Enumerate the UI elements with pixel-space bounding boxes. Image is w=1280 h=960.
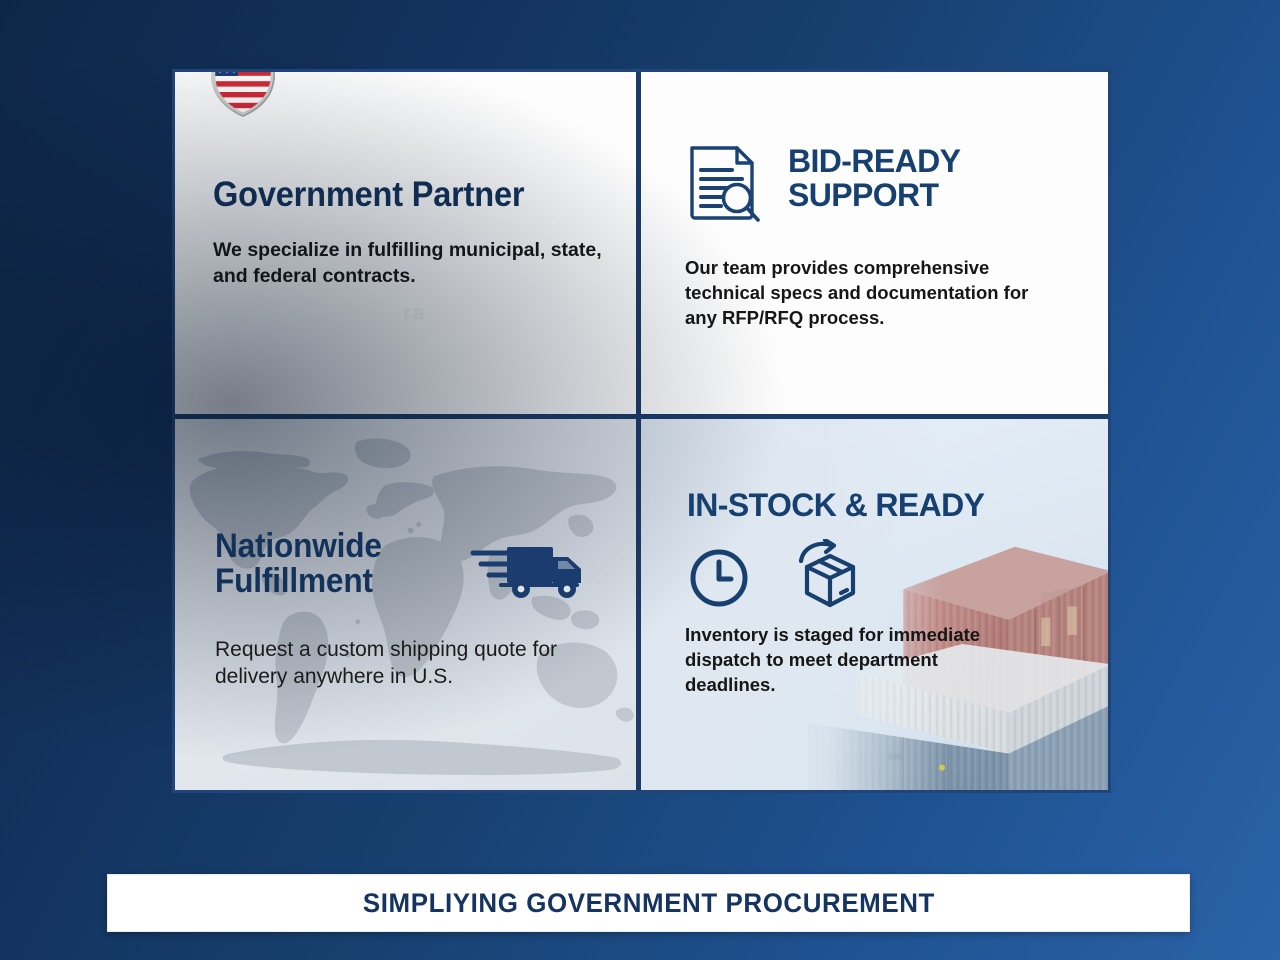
panel-heading: Government Partner (213, 177, 524, 213)
panel-body-text: We specialize in fulfilling municipal, s… (213, 237, 613, 289)
panel-heading: Nationwide Fulfillment (215, 529, 382, 598)
panel-government-partner[interactable]: Government Partner We specialize in fulf… (175, 72, 641, 419)
panel-body-text: Request a custom shipping quote for deli… (215, 637, 615, 691)
panel-heading-line2: Fulfillment (215, 564, 382, 599)
panel-body-text: Our team provides comprehensive technica… (685, 256, 1055, 330)
panel-heading: BID-READY SUPPORT (788, 145, 960, 212)
ghost-artifact-text: ra (403, 300, 426, 326)
feature-panel-grid: Government Partner We specialize in fulf… (175, 72, 1108, 790)
delivery-truck-icon (469, 541, 587, 603)
panel-heading-line1: Nationwide (215, 529, 382, 564)
document-magnifier-icon (687, 144, 763, 226)
clock-icon (688, 547, 750, 609)
panel-heading: IN-STOCK & READY (687, 489, 984, 523)
box-refresh-icon (793, 539, 861, 609)
world-map-watermark (175, 419, 636, 790)
bottom-banner[interactable]: SIMPLIYING GOVERNMENT PROCUREMENT (107, 874, 1190, 932)
banner-text: SIMPLIYING GOVERNMENT PROCUREMENT (362, 888, 934, 919)
panel-bid-ready-support[interactable]: BID-READY SUPPORT Our team provides comp… (641, 72, 1108, 419)
panel-nationwide-fulfillment[interactable]: Nationwide Fulfillment Request a custom … (175, 419, 641, 790)
slide-background: Government Partner We specialize in fulf… (0, 0, 1280, 960)
usa-flag-shield-icon (208, 72, 278, 117)
panel-in-stock-ready[interactable]: IN-STOCK & READY Inventory is staged for… (641, 419, 1108, 790)
panel-heading-line1: BID-READY (788, 145, 960, 179)
panel-heading-line2: SUPPORT (788, 179, 960, 213)
panel-body-text: Inventory is staged for immediate dispat… (685, 623, 1025, 697)
